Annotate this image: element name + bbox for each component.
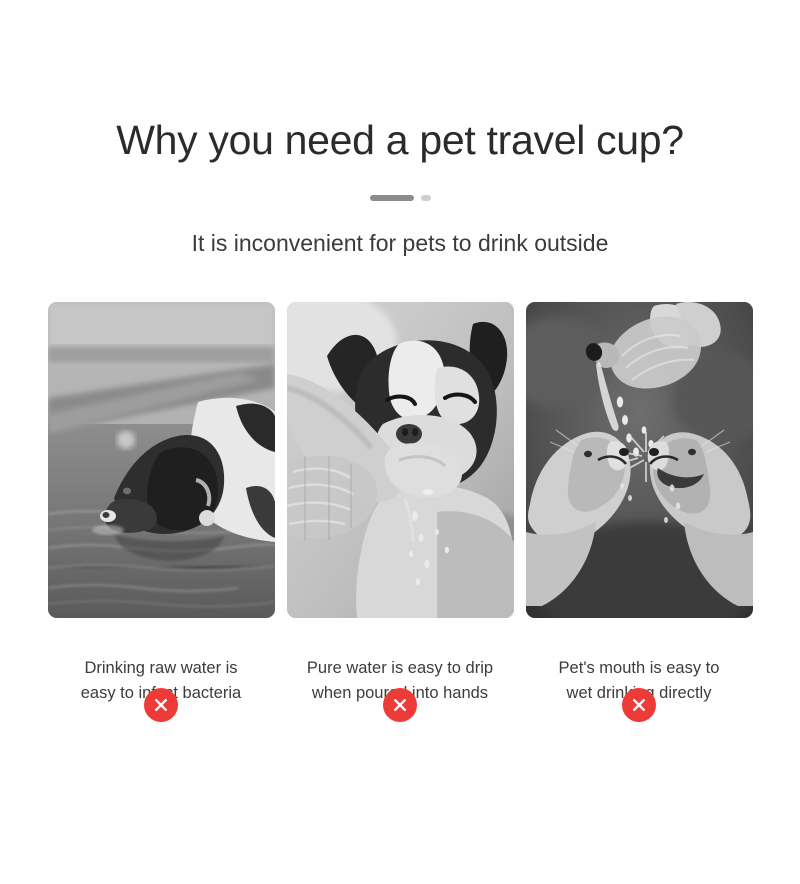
product-feature-page: Why you need a pet travel cup? It is inc…: [0, 0, 800, 884]
problem-card: Pure water is easy to drip when poured i…: [287, 302, 514, 706]
title-divider: [0, 194, 800, 201]
x-mark-badge: [383, 688, 417, 722]
card-photo-bottle-hands: [287, 302, 514, 618]
problem-card: Pet's mouth is easy to wet drinking dire…: [526, 302, 753, 706]
retrievers-catching-water-illustration: [526, 302, 753, 618]
dog-drinking-lake-illustration: [48, 302, 275, 618]
heading-block: Why you need a pet travel cup? It is inc…: [0, 0, 800, 258]
bulldog-drinking-from-hands-illustration: [287, 302, 514, 618]
x-mark-badge: [144, 688, 178, 722]
x-mark-icon: [631, 697, 647, 713]
x-mark-icon: [153, 697, 169, 713]
card-caption-line: Drinking raw water is: [48, 656, 275, 681]
card-photo-raw-water: [48, 302, 275, 618]
problem-cards-row: Drinking raw water is easy to infect bac…: [0, 302, 800, 706]
x-mark-badge: [622, 688, 656, 722]
page-subtitle: It is inconvenient for pets to drink out…: [0, 201, 800, 258]
card-caption-line: Pure water is easy to drip: [287, 656, 514, 681]
card-photo-pouring-bottle: [526, 302, 753, 618]
divider-bar-long-icon: [370, 195, 414, 201]
problem-card: Drinking raw water is easy to infect bac…: [48, 302, 275, 706]
x-mark-icon: [392, 697, 408, 713]
page-title: Why you need a pet travel cup?: [0, 118, 800, 163]
divider-bar-short-icon: [421, 195, 431, 201]
card-caption-line: Pet's mouth is easy to: [526, 656, 753, 681]
